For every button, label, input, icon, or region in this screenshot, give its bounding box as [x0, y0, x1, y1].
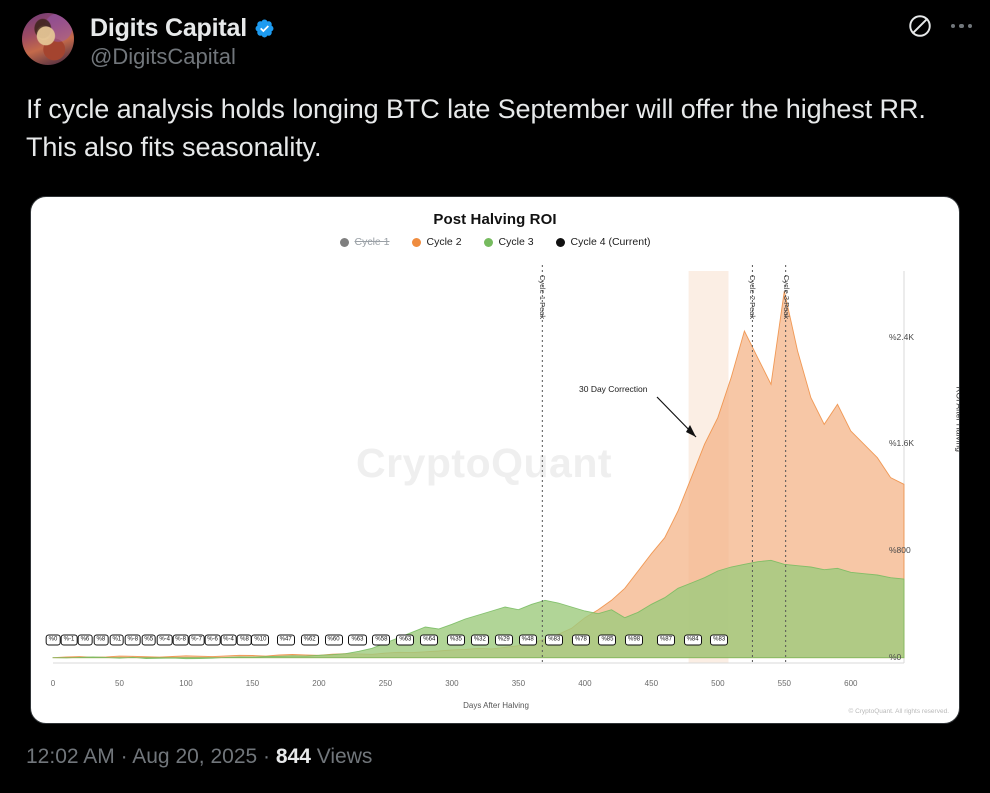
tweet-date: Aug 20, 2025	[132, 745, 257, 768]
data-label-28: %98	[625, 634, 643, 645]
data-label-2: %6	[78, 634, 93, 645]
avatar[interactable]	[22, 13, 74, 65]
data-label-4: %1	[109, 634, 124, 645]
chart-media-card[interactable]: Post Halving ROI Cycle 1 Cycle 2 Cycle 3…	[30, 196, 960, 724]
x-tick-5: 250	[379, 679, 392, 688]
x-tick-2: 100	[179, 679, 192, 688]
x-tick-7: 350	[512, 679, 525, 688]
views-count: 844	[276, 745, 311, 768]
annotation-30-day-correction: 30 Day Correction	[579, 384, 648, 394]
chart-copyright: © CryptoQuant. All rights reserved.	[848, 708, 949, 715]
x-tick-3: 150	[246, 679, 259, 688]
footer-sep-1: ·	[115, 745, 133, 768]
data-label-13: %10	[251, 634, 269, 645]
tweet-footer: 12:02 AM · Aug 20, 2025 · 844 Views	[26, 745, 372, 769]
views-label: Views	[311, 745, 372, 768]
data-label-11: %-4	[220, 634, 237, 645]
data-label-8: %-8	[172, 634, 189, 645]
vline-label-cycle-1-peak: Cycle 1 Peak	[538, 275, 547, 319]
display-name-row: Digits Capital	[90, 14, 275, 43]
data-label-31: %83	[710, 634, 728, 645]
y-tick-3: %2.4K	[889, 332, 933, 342]
x-tick-12: 600	[844, 679, 857, 688]
data-label-18: %58	[372, 634, 390, 645]
vline-label-cycle-2-peak: Cycle 2 Peak	[748, 275, 757, 319]
x-tick-9: 450	[645, 679, 658, 688]
data-label-24: %48	[519, 634, 537, 645]
data-label-10: %-6	[204, 634, 221, 645]
x-tick-4: 200	[312, 679, 325, 688]
data-label-14: %47	[277, 634, 295, 645]
data-label-22: %32	[471, 634, 489, 645]
data-label-21: %35	[447, 634, 465, 645]
x-tick-1: 50	[115, 679, 124, 688]
author-names: Digits Capital @DigitsCapital	[90, 10, 275, 70]
header-actions	[907, 13, 973, 39]
x-tick-11: 550	[778, 679, 791, 688]
data-label-29: %87	[657, 634, 675, 645]
x-tick-6: 300	[445, 679, 458, 688]
data-label-17: %63	[348, 634, 366, 645]
data-label-20: %64	[420, 634, 438, 645]
author-handle[interactable]: @DigitsCapital	[90, 44, 275, 70]
tweet-header: Digits Capital @DigitsCapital	[0, 0, 990, 86]
y-tick-1: %800	[889, 545, 933, 555]
y-tick-2: %1.6K	[889, 438, 933, 448]
vline-label-cycle-3-peak: Cycle 3 Peak	[782, 275, 791, 319]
display-name[interactable]: Digits Capital	[90, 14, 247, 43]
data-label-15: %62	[301, 634, 319, 645]
data-label-6: %5	[141, 634, 156, 645]
x-tick-0: 0	[51, 679, 55, 688]
data-label-30: %84	[684, 634, 702, 645]
chart-plot-area: CryptoQuant Days After Halving ROI After…	[31, 197, 960, 724]
more-options-icon[interactable]	[951, 13, 973, 39]
data-label-25: %83	[545, 634, 563, 645]
data-label-27: %85	[598, 634, 616, 645]
x-tick-10: 500	[711, 679, 724, 688]
data-label-9: %-7	[188, 634, 205, 645]
data-label-1: %-1	[61, 634, 78, 645]
data-label-3: %8	[94, 634, 109, 645]
x-axis-label: Days After Halving	[31, 701, 960, 710]
data-label-0: %0	[46, 634, 61, 645]
x-tick-8: 400	[578, 679, 591, 688]
data-label-19: %63	[396, 634, 414, 645]
data-label-5: %-8	[124, 634, 141, 645]
data-label-16: %60	[325, 634, 343, 645]
data-label-7: %-4	[156, 634, 173, 645]
verified-badge-icon	[254, 18, 275, 39]
y-tick-0: %0	[889, 652, 933, 662]
y-axis-label: ROI After Halving	[955, 386, 960, 452]
data-label-23: %29	[495, 634, 513, 645]
footer-sep-2: ·	[257, 745, 276, 768]
tweet-time: 12:02 AM	[26, 745, 115, 768]
grok-icon[interactable]	[907, 13, 933, 39]
data-label-12: %8	[237, 634, 252, 645]
tweet-container: Digits Capital @DigitsCapital If cycle a…	[0, 0, 990, 793]
data-label-26: %78	[572, 634, 590, 645]
tweet-text: If cycle analysis holds longing BTC late…	[0, 86, 990, 166]
